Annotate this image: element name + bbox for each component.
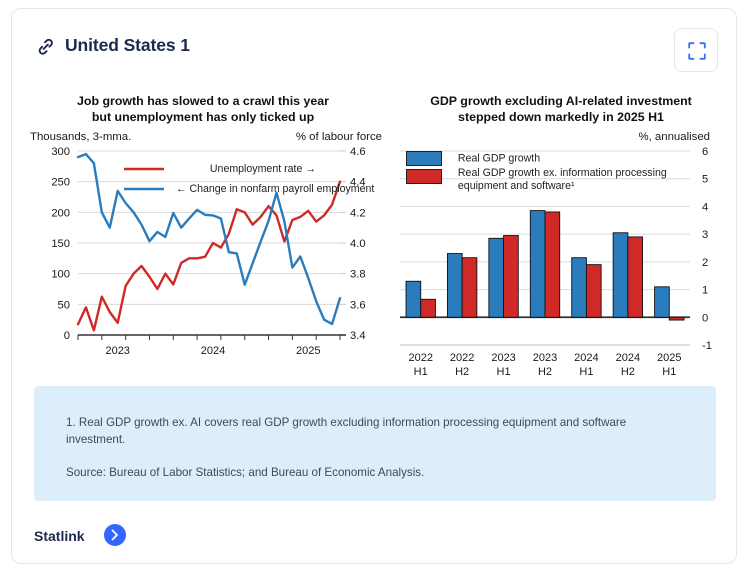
legend-item-payroll-change: ← Change in nonfarm payroll employment: [124, 183, 374, 195]
legend-item-unemployment-rate: Unemployment rate →: [124, 163, 316, 175]
svg-text:H1: H1: [497, 366, 511, 378]
svg-text:2023: 2023: [105, 345, 129, 357]
svg-text:1: 1: [702, 285, 708, 297]
source-text: Source: Bureau of Labor Statistics; and …: [66, 464, 676, 481]
svg-text:2025: 2025: [657, 352, 681, 364]
notes-panel: 1. Real GDP growth ex. AI covers real GD…: [34, 386, 716, 501]
svg-text:3: 3: [702, 229, 708, 241]
svg-text:3.8: 3.8: [350, 269, 366, 281]
job-growth-chart-title: Job growth has slowed to a crawl this ye…: [24, 93, 382, 125]
right-axis-unit-label: % of labour force: [296, 131, 382, 143]
svg-text:4: 4: [702, 201, 708, 213]
svg-text:250: 250: [51, 177, 70, 189]
gdp-axis-unit-label: %, annualised: [638, 131, 710, 143]
svg-text:4.0: 4.0: [350, 238, 366, 250]
svg-text:200: 200: [51, 207, 70, 219]
legend-swatch-real-gdp-growth-ex-ai: [406, 169, 442, 184]
svg-text:3.6: 3.6: [350, 299, 366, 311]
svg-text:H2: H2: [621, 366, 635, 378]
gdp-growth-panel: GDP growth excluding AI-related investme…: [384, 93, 738, 373]
svg-text:4.2: 4.2: [350, 207, 366, 219]
svg-text:H1: H1: [662, 366, 676, 378]
legend-label-payroll-change: ← Change in nonfarm payroll employment: [176, 183, 374, 195]
statlink-label: Statlink: [34, 528, 85, 544]
svg-text:2022: 2022: [450, 352, 474, 364]
left-axis-unit-label: Thousands, 3-mma.: [30, 131, 131, 143]
page-title: United States 1: [65, 35, 190, 56]
svg-text:2025: 2025: [296, 345, 320, 357]
job-growth-panel: Job growth has slowed to a crawl this ye…: [24, 93, 382, 373]
legend-label-real-gdp-growth-ex-ai: Real GDP growth ex. information processi…: [458, 167, 708, 193]
legend-label-unemployment-rate: Unemployment rate →: [210, 163, 316, 175]
legend-item-real-gdp-growth: Real GDP growth: [406, 151, 706, 166]
footnote-text: 1. Real GDP growth ex. AI covers real GD…: [66, 414, 676, 448]
statlink-arrow-button[interactable]: [104, 524, 126, 546]
svg-text:2024: 2024: [574, 352, 598, 364]
svg-text:H1: H1: [579, 366, 593, 378]
svg-text:150: 150: [51, 238, 70, 250]
svg-text:-1: -1: [702, 340, 712, 352]
svg-text:0: 0: [702, 312, 708, 324]
svg-text:2023: 2023: [491, 352, 515, 364]
screenshot-root: United States 1 Job growth has slowed to…: [0, 0, 748, 580]
svg-text:H2: H2: [455, 366, 469, 378]
link-icon: [36, 37, 56, 57]
svg-text:2024: 2024: [201, 345, 225, 357]
job-growth-plot: 03.4503.61003.81504.02004.22504.43004.62…: [24, 145, 382, 371]
chart-card: United States 1 Job growth has slowed to…: [11, 8, 737, 564]
svg-text:2: 2: [702, 257, 708, 269]
svg-text:H2: H2: [538, 366, 552, 378]
svg-text:H1: H1: [414, 366, 428, 378]
svg-text:3.4: 3.4: [350, 330, 366, 342]
svg-text:300: 300: [51, 146, 70, 158]
svg-text:100: 100: [51, 269, 70, 281]
legend-item-real-gdp-growth-ex-ai: Real GDP growth ex. information processi…: [406, 167, 716, 193]
svg-text:4.6: 4.6: [350, 146, 366, 158]
svg-text:50: 50: [58, 299, 70, 311]
legend-swatch-real-gdp-growth: [406, 151, 442, 166]
svg-text:2024: 2024: [616, 352, 640, 364]
svg-text:2023: 2023: [533, 352, 557, 364]
svg-text:2022: 2022: [408, 352, 432, 364]
expand-fullscreen-button[interactable]: [674, 28, 718, 72]
legend-label-real-gdp-growth: Real GDP growth: [458, 152, 540, 164]
gdp-growth-chart-title: GDP growth excluding AI-related investme…: [384, 93, 738, 125]
card-header: United States 1: [12, 9, 736, 83]
svg-text:0: 0: [64, 330, 70, 342]
